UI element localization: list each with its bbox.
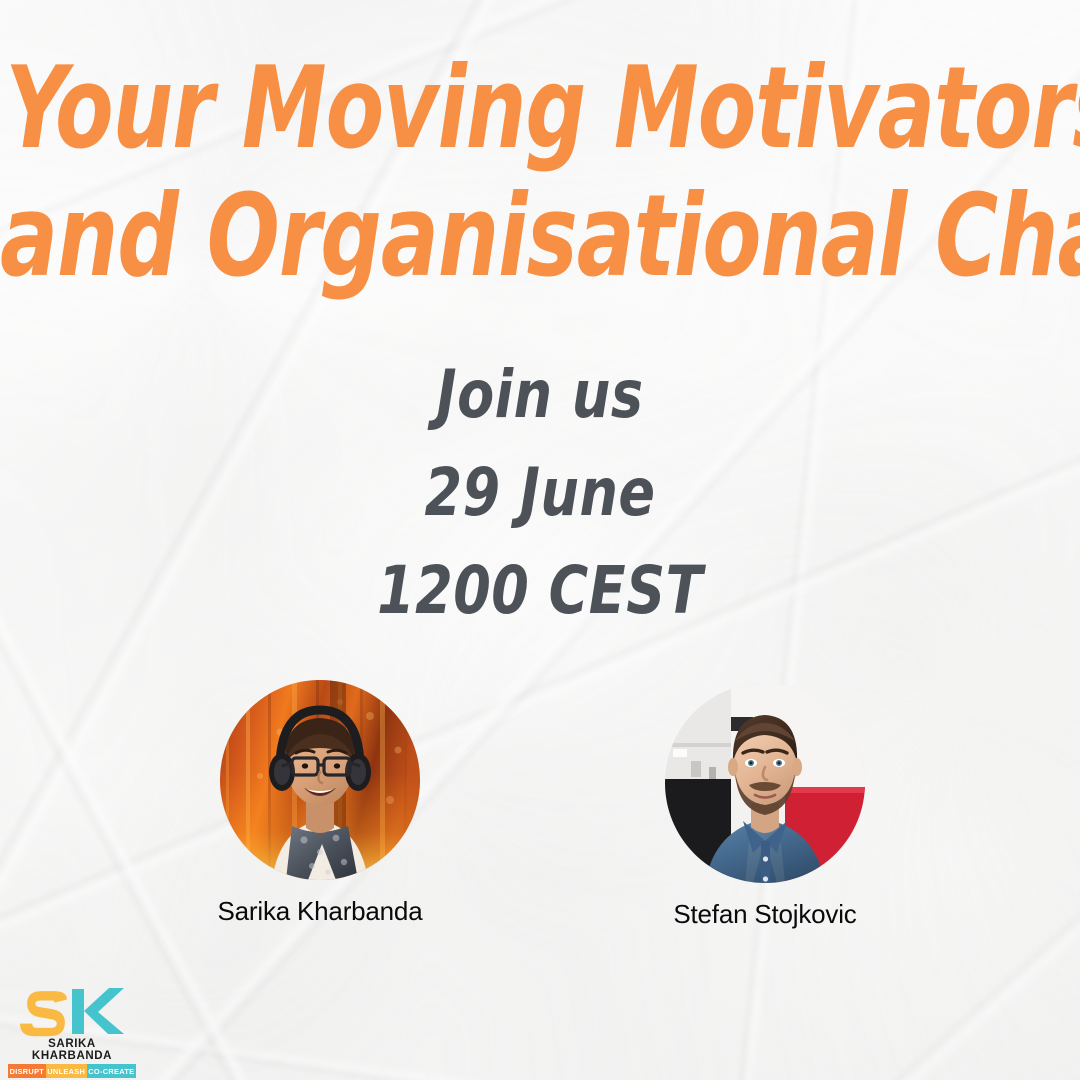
- sk-monogram-icon: [16, 983, 128, 1037]
- title-line-1: Your Moving Motivators: [5, 52, 1074, 166]
- speaker-list: Sarika Kharbanda: [0, 680, 1080, 940]
- poster-content: Your Moving Motivators and Organisationa…: [0, 0, 1080, 1080]
- logo-tagline-bar: DISRUPT UNLEASH CO-CREATE: [8, 1064, 136, 1078]
- event-invite-line: Join us: [0, 362, 1080, 428]
- tagline-unleash: UNLEASH: [46, 1064, 87, 1078]
- speaker-name-sarika: Sarika Kharbanda: [200, 896, 440, 927]
- brand-logo[interactable]: SARIKA KHARBANDA DISRUPT UNLEASH CO-CREA…: [8, 983, 158, 1078]
- avatar-sarika: [220, 680, 420, 880]
- tagline-disrupt: DISRUPT: [8, 1064, 46, 1078]
- speaker-card-sarika: Sarika Kharbanda: [200, 680, 440, 927]
- poster-title: Your Moving Motivators and Organisationa…: [0, 52, 1080, 266]
- speaker-name-stefan: Stefan Stojkovic: [645, 899, 885, 930]
- title-line-2: and Organisational Change: [0, 180, 1080, 294]
- avatar-sarika-photo: [220, 680, 420, 880]
- logo-brand-name: SARIKA KHARBANDA: [10, 1038, 134, 1062]
- avatar-stefan: [665, 683, 865, 883]
- speaker-card-stefan: Stefan Stojkovic: [645, 683, 885, 930]
- event-date: 29 June: [0, 460, 1080, 526]
- event-details: Join us 29 June 1200 CEST: [0, 362, 1080, 612]
- avatar-stefan-photo: [665, 683, 865, 883]
- tagline-co-create: CO-CREATE: [87, 1064, 136, 1078]
- event-time: 1200 CEST: [0, 558, 1080, 624]
- event-poster: Your Moving Motivators and Organisationa…: [0, 0, 1080, 1080]
